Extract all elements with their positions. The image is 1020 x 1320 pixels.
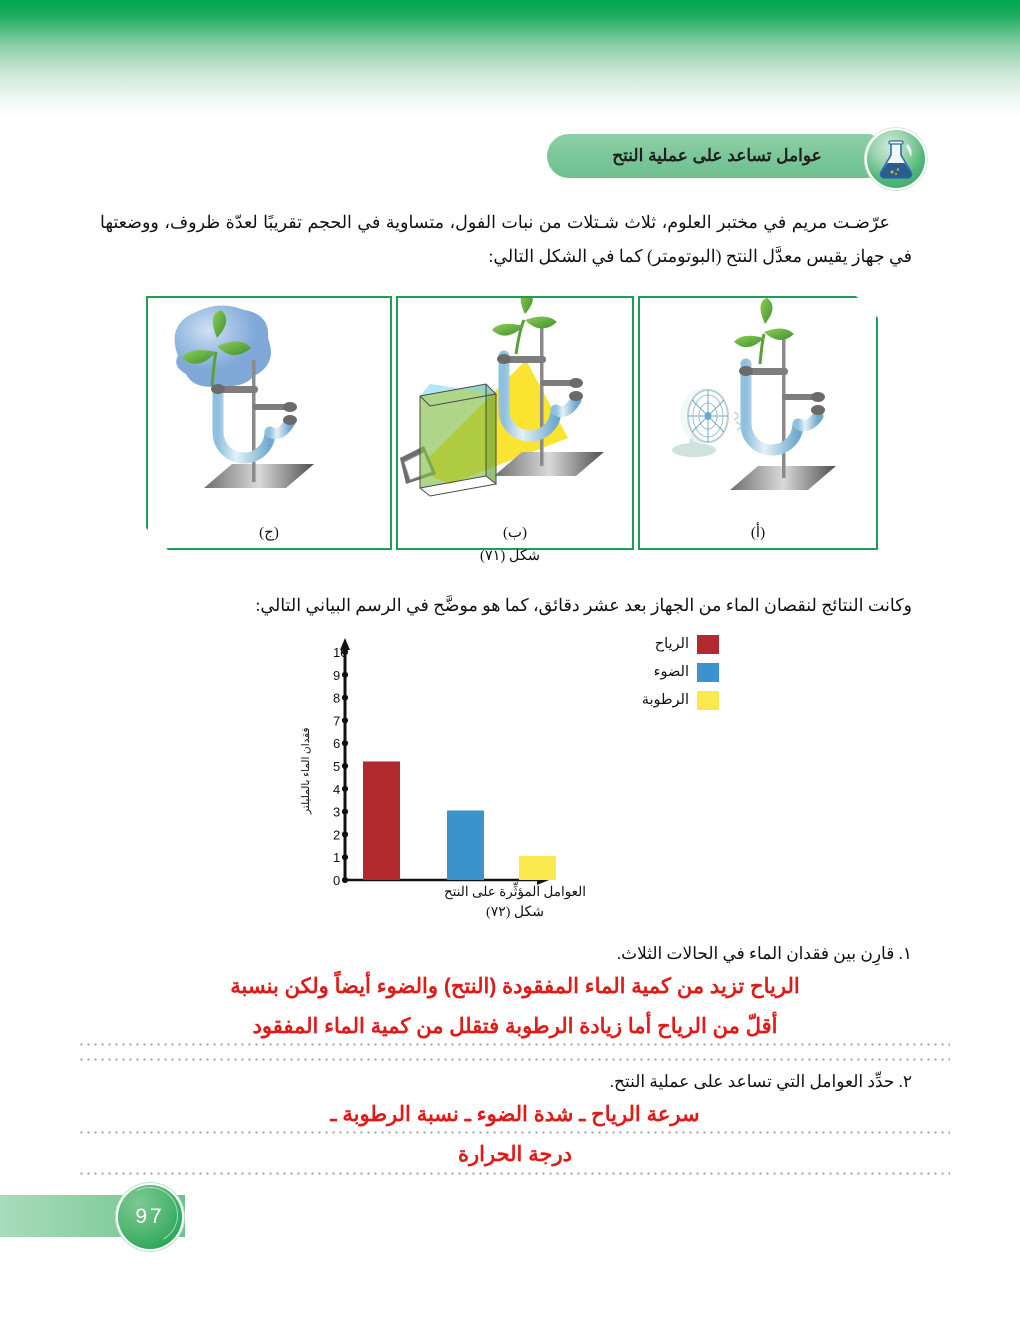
- top-gradient-band: [0, 0, 1020, 120]
- legend-item-humidity: الرطوبة: [599, 688, 719, 712]
- bar-chart: 012345678910 فقدان الماء بالمليلتر الريا…: [295, 632, 725, 924]
- figure-panel-a-label: (أ): [640, 523, 876, 542]
- legend-swatch-wind: [697, 635, 719, 654]
- light-potometer-illustration: [398, 298, 632, 508]
- bar-1: [447, 810, 484, 880]
- legend-label-light: الضوء: [654, 664, 689, 681]
- figure-panel-b-label: (ب): [398, 523, 632, 542]
- question-1: ١. قارِن بين فقدان الماء في الحالات الثل…: [100, 940, 912, 968]
- answer-rule-2: [78, 1058, 950, 1061]
- section-header-title: عوامل تساعد على عملية النتح: [567, 134, 867, 178]
- section-header: عوامل تساعد على عملية النتح: [535, 130, 925, 182]
- svg-text:9: 9: [333, 668, 340, 683]
- svg-text:5: 5: [333, 759, 340, 774]
- answer-2-line-2: درجة الحرارة: [75, 1140, 955, 1170]
- legend-label-humidity: الرطوبة: [642, 692, 689, 709]
- legend-item-light: الضوء: [599, 660, 719, 684]
- answer-1-line-1: الرياح تزيد من كمية الماء المفقودة (النت…: [75, 972, 955, 1002]
- bar-0: [363, 761, 400, 880]
- legend-swatch-humidity: [697, 691, 719, 710]
- bar-series: [363, 761, 556, 880]
- x-axis-label: العوامل المؤثِّرة على النتح: [350, 884, 680, 900]
- svg-text:2: 2: [333, 827, 340, 842]
- legend-swatch-light: [697, 663, 719, 682]
- answer-rule-3: [78, 1131, 950, 1134]
- figure-panel-c-label: (ج): [148, 523, 390, 542]
- figure-72-caption: شكل (٧٢): [350, 904, 680, 921]
- svg-text:3: 3: [333, 805, 340, 820]
- results-paragraph: وكانت النتائج لنقصان الماء من الجهاز بعد…: [100, 588, 912, 622]
- svg-text:6: 6: [333, 736, 340, 751]
- page-number: 97: [118, 1185, 182, 1249]
- figure-panel-b: (ب): [396, 296, 634, 550]
- intro-paragraph: عرّضـت مريم في مختبر العلوم، ثلاث شـتلات…: [100, 205, 912, 273]
- svg-text:0: 0: [333, 873, 340, 888]
- fan-potometer-illustration: [640, 298, 876, 508]
- question-2: ٢. حدِّد العوامل التي تساعد على عملية ال…: [100, 1068, 912, 1096]
- answer-rule-1: [78, 1043, 950, 1046]
- legend-label-wind: الرياح: [655, 636, 689, 653]
- svg-text:8: 8: [333, 691, 340, 706]
- figure-71-caption: شكل (٧١): [146, 548, 874, 565]
- legend-item-wind: الرياح: [599, 632, 719, 656]
- figure-panel-c: (ج): [146, 296, 392, 550]
- answer-2-line-1: سرعة الرياح ـ شدة الضوء ـ نسبة الرطوبة ـ: [75, 1100, 955, 1130]
- figure-71: (أ): [146, 296, 874, 546]
- humidity-bag-potometer-illustration: [148, 298, 390, 508]
- bar-2: [519, 856, 556, 880]
- flask-icon-glyph: [867, 130, 925, 188]
- svg-text:7: 7: [333, 713, 340, 728]
- answer-rule-4: [78, 1172, 950, 1175]
- chart-legend: الرياح الضوء الرطوبة: [599, 632, 719, 716]
- svg-text:1: 1: [333, 850, 340, 865]
- svg-text:4: 4: [333, 782, 340, 797]
- figure-panel-a: (أ): [638, 296, 878, 550]
- answer-1-line-2: أقلّ من الرياح أما زيادة الرطوبة فتقلل م…: [75, 1012, 955, 1042]
- flask-icon: [867, 130, 925, 188]
- y-axis-label: فقدان الماء بالمليلتر: [299, 706, 315, 836]
